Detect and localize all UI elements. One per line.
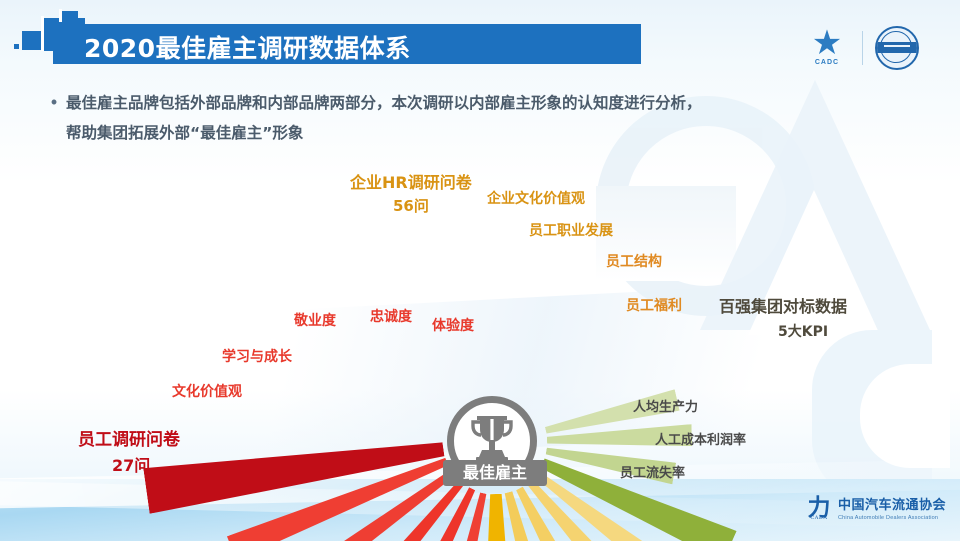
slide-root: 2020最佳雇主调研数据体系 ★ CADC • 最佳雇主品牌包括外部品牌和内部品…: [0, 0, 960, 541]
cada-mark-caption: CADA: [806, 515, 832, 521]
fan-ray-sublabel: 56问: [393, 195, 429, 216]
fan-ray-label: 忠诚度: [370, 306, 412, 326]
fan-ray-label: 员工流失率: [620, 462, 685, 481]
footer-org-cn: 中国汽车流通协会: [838, 494, 946, 513]
footer-org-en: China Automobile Dealers Association: [838, 515, 946, 521]
cada-mark-icon: 力 CADA: [806, 495, 832, 521]
best-employer-badge: 最佳雇主: [447, 396, 543, 492]
footer-logo: 力 CADA 中国汽车流通协会 China Automobile Dealers…: [806, 494, 946, 521]
fan-ray: [143, 426, 446, 513]
fan-ray-label: 敬业度: [294, 310, 336, 330]
fan-ray-label: 员工福利: [626, 295, 682, 315]
fan-ray-sublabel: 5大KPI: [778, 321, 828, 341]
badge-label: 最佳雇主: [443, 460, 547, 486]
fan-ray-label: 企业HR调研问卷: [350, 169, 472, 193]
trophy-icon: [467, 414, 517, 466]
fan-ray-label: 员工职业发展: [529, 220, 613, 240]
fan-ray-label: 学习与成长: [222, 346, 292, 366]
fan-ray-label: 员工结构: [606, 251, 662, 271]
fan-ray-label: 文化价值观: [172, 381, 242, 401]
fan-ray-label: 体验度: [432, 315, 474, 335]
fan-ray-sublabel: 27问: [112, 452, 150, 476]
fan-ray-label: 企业文化价值观: [487, 188, 585, 208]
fan-ray-label: 人工成本利润率: [655, 429, 746, 448]
fan-ray-label: 百强集团对标数据: [719, 293, 847, 317]
fan-ray-label: 人均生产力: [633, 396, 698, 415]
fan-ray-label: 员工调研问卷: [78, 425, 180, 450]
